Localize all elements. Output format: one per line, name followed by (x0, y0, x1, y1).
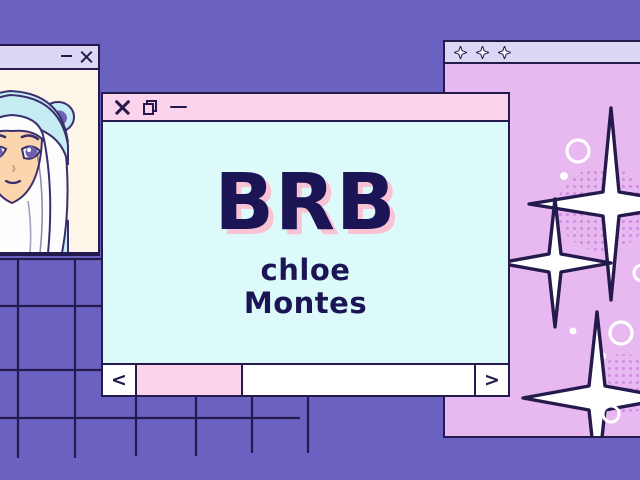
scroll-right-button[interactable]: > (474, 365, 508, 395)
avatar-window-body (0, 70, 98, 254)
avatar-window[interactable] (0, 44, 100, 256)
scrollbar-track[interactable] (137, 365, 474, 395)
sparkle-window-titlebar[interactable] (445, 42, 640, 64)
close-icon[interactable] (79, 51, 92, 64)
scroll-left-button[interactable]: < (103, 365, 137, 395)
streamer-first-name: chloe (261, 253, 351, 287)
scrollbar-thumb[interactable] (137, 365, 243, 395)
brb-headline: BRB (215, 166, 397, 240)
streamer-last-name: Montes (244, 286, 367, 320)
restore-window-icon[interactable] (143, 100, 158, 115)
diamond-icon (498, 46, 511, 59)
diamond-icon (476, 46, 489, 59)
screen-canvas: BRB chloe Montes < > (0, 0, 640, 480)
streamer-name: chloe Montes (244, 254, 367, 319)
close-icon[interactable] (114, 99, 131, 116)
horizontal-scrollbar[interactable]: < > (103, 365, 508, 395)
brb-window-titlebar[interactable] (103, 94, 508, 122)
brb-window[interactable]: BRB chloe Montes < > (101, 92, 510, 397)
minimize-icon[interactable] (170, 106, 187, 109)
avatar-window-titlebar[interactable] (0, 46, 98, 70)
brb-content-area: BRB chloe Montes (103, 122, 508, 365)
diamond-icon (454, 46, 467, 59)
avatar (0, 70, 98, 252)
minimize-icon[interactable] (61, 55, 72, 57)
